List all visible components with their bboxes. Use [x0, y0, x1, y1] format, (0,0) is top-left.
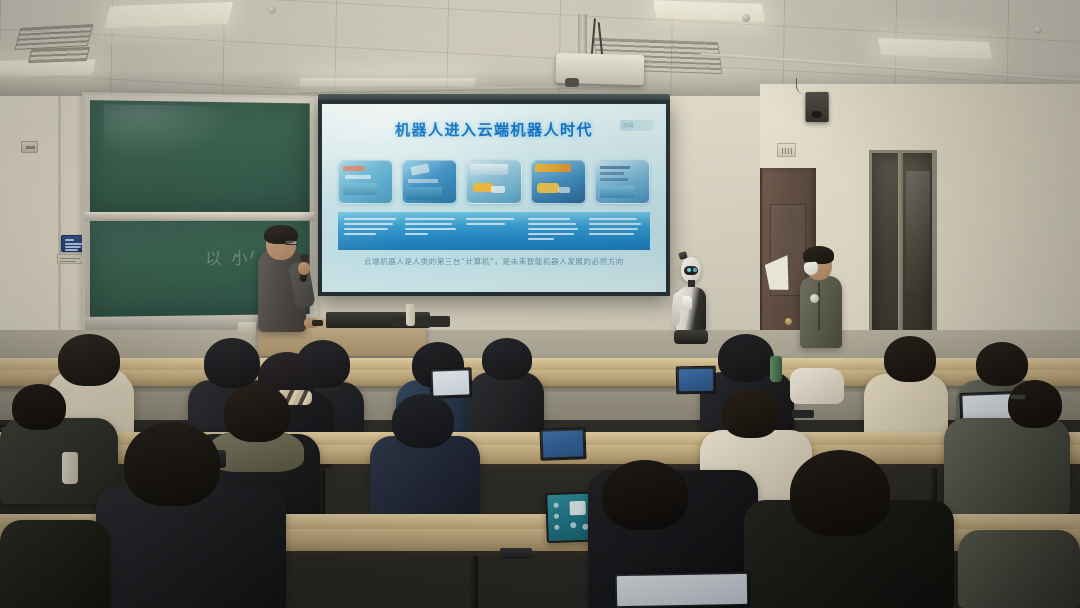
lecture-hall-photo: 以 小 机器人进入云端机器人时代 达闼: [0, 0, 1080, 608]
slide-title: 机器人进入云端机器人时代: [322, 119, 666, 140]
thermos-bottle-front: [62, 452, 78, 484]
thumb-autonomous-vehicles: [466, 160, 521, 204]
caption-column: [589, 217, 644, 245]
window-glare: [906, 171, 930, 291]
presentation-clicker: [312, 320, 323, 326]
eyeglasses-icon: [1010, 394, 1026, 400]
caption-column: [528, 217, 583, 245]
robot-chest-panel: [681, 296, 692, 310]
sprinkler-head-icon: [268, 6, 276, 14]
sprinkler-head-icon: [1034, 26, 1042, 34]
wall-note-card: [57, 254, 85, 264]
thumb-cloud-network: [595, 160, 650, 204]
laptop-white-screen-center[interactable]: [429, 367, 472, 398]
sprinkler-head-icon: [742, 14, 750, 22]
laptop-middle-row[interactable]: [539, 427, 586, 461]
av-equipment: [392, 316, 450, 327]
laptop-back-right[interactable]: [676, 366, 716, 395]
hvac-vent: [14, 24, 93, 50]
presentation-slide: 机器人进入云端机器人时代 达闼: [322, 104, 666, 292]
thumb-industrial-robots: [338, 160, 393, 204]
white-duffel-bag: [790, 368, 844, 404]
ceiling-light-panel: [105, 2, 234, 28]
logo-text: 达闼: [623, 122, 633, 129]
wall-outlet: [21, 141, 38, 153]
jacket-badge: [810, 294, 819, 303]
standing-person-with-mask: [800, 276, 842, 348]
jacket-zipper: [818, 282, 820, 330]
slide-footer-text: 云端机器人是人类的第三台“计算机”，是未来智能机器人发展的必然方向: [322, 256, 666, 267]
water-bottle-green: [770, 356, 782, 382]
laptop-foreground-bottom[interactable]: [614, 571, 751, 608]
chalk-mark: [236, 254, 239, 257]
door-knob[interactable]: [785, 318, 792, 325]
chalkboard-glare: [103, 105, 232, 160]
hvac-vent: [28, 47, 90, 63]
chalk-mark: [250, 250, 254, 259]
wall-sign: [777, 143, 796, 157]
projection-screen: 机器人进入云端机器人时代 达闼: [318, 100, 670, 296]
smartphone-front-desk[interactable]: [500, 548, 532, 559]
desk-leg: [470, 556, 478, 608]
caption-column: [344, 217, 399, 245]
chalkboard-panel-upper: [90, 100, 310, 212]
robot-base: [674, 330, 708, 344]
robot-eye-icon: [693, 268, 697, 272]
eyeglasses-icon: [285, 240, 298, 245]
robot-eye-icon: [687, 268, 691, 272]
chalkboard-writing: 以 小: [205, 244, 250, 269]
slide-caption-band: [338, 212, 650, 250]
slide-thumbnail-row: [338, 160, 650, 204]
wall-speaker: [805, 92, 828, 122]
smartphone-on-desk[interactable]: [792, 410, 814, 418]
caption-column: [405, 217, 460, 245]
caption-column: [466, 217, 521, 245]
thumb-smart-transport: [531, 160, 586, 204]
water-bottle: [406, 304, 415, 326]
presenter-hand: [298, 262, 310, 275]
company-logo: 达闼: [620, 120, 654, 131]
projector-mount: [578, 14, 587, 58]
microphone-head-icon: [300, 254, 309, 262]
chalkboard-rail: [85, 212, 314, 221]
projector-lens-icon: [565, 78, 579, 87]
thumb-service-robots: [402, 160, 457, 204]
microphone-case: [238, 322, 256, 336]
